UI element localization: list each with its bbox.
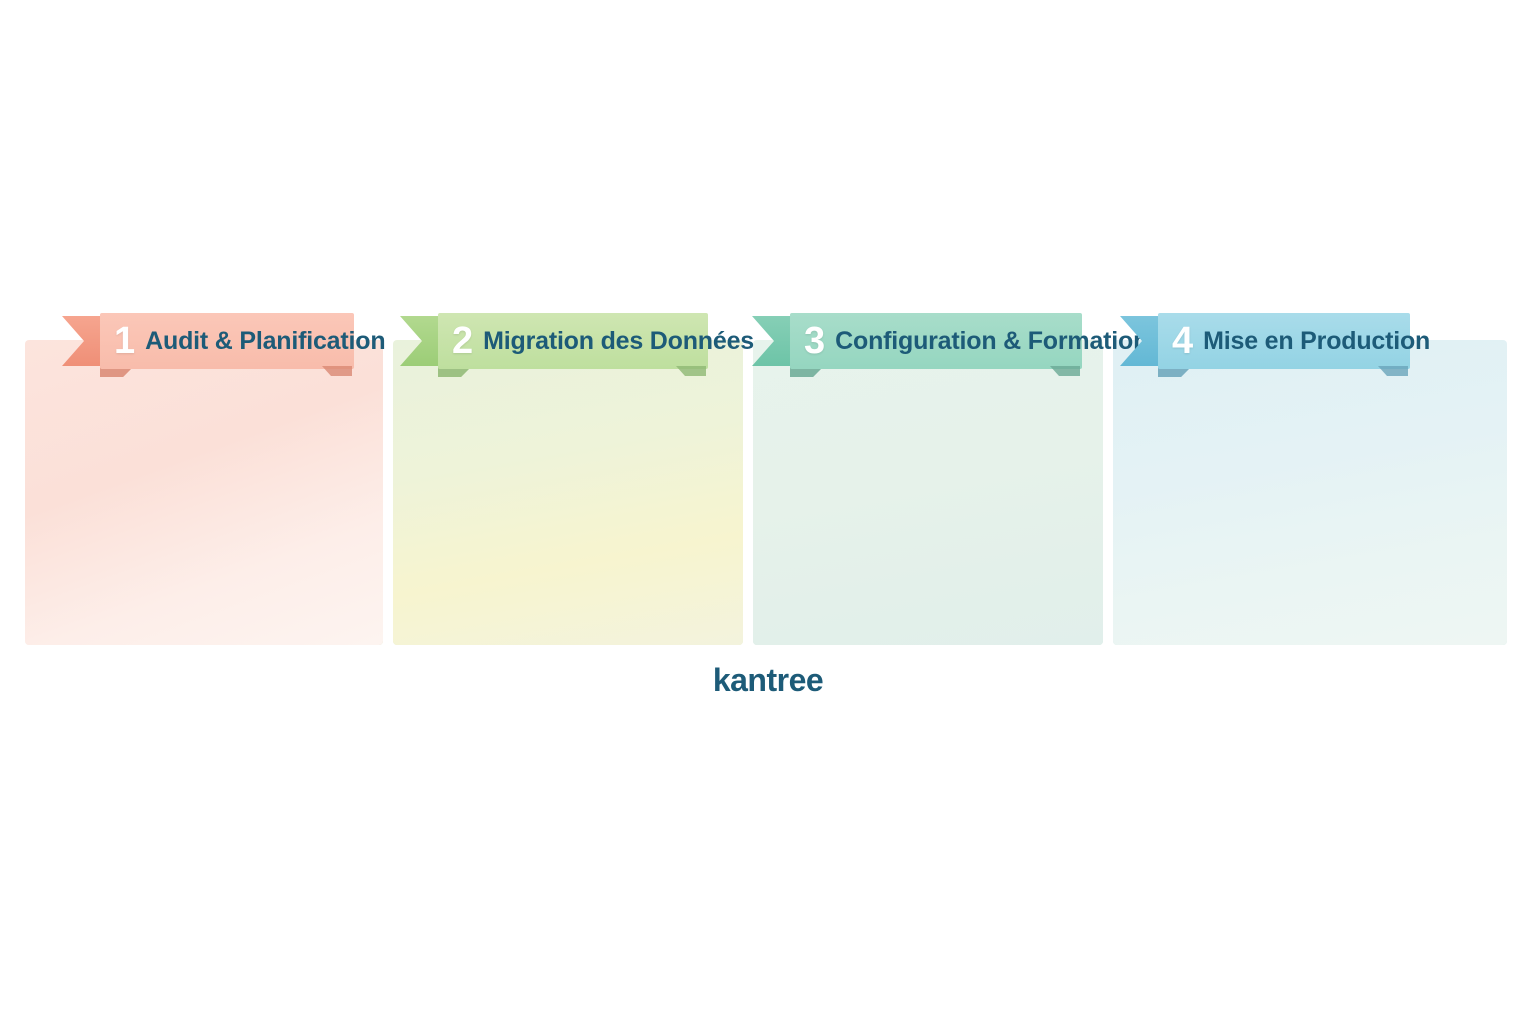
panel-2-background (393, 340, 743, 645)
panel-3-background (753, 340, 1103, 645)
step-panel-4[interactable]: Kantree (1113, 340, 1507, 645)
step-banner-3[interactable]: 3 Configuration & Formation (752, 313, 1082, 369)
ribbon-body-1: 1 Audit & Planification (100, 313, 354, 369)
step-label-1: Audit & Planification (145, 327, 385, 356)
step-panel-1[interactable] (25, 340, 383, 645)
panel-1-background (25, 340, 383, 645)
kantree-wordmark: kantree (0, 662, 1536, 699)
step-banner-1[interactable]: 1 Audit & Planification (62, 313, 354, 369)
ribbon-body-3: 3 Configuration & Formation (790, 313, 1082, 369)
step-label-2: Migration des Données (483, 327, 754, 356)
step-number-2: 2 (452, 322, 473, 360)
step-banner-4[interactable]: 4 Mise en Production (1120, 313, 1410, 369)
steps-strip: Kantree (25, 340, 1507, 645)
step-number-3: 3 (804, 322, 825, 360)
step-label-4: Mise en Production (1203, 327, 1430, 356)
step-panel-2[interactable] (393, 340, 743, 645)
panel-4-background (1113, 340, 1507, 645)
step-panel-3[interactable] (753, 340, 1103, 645)
ribbon-body-4: 4 Mise en Production (1158, 313, 1410, 369)
step-label-3: Configuration & Formation (835, 327, 1148, 356)
step-banner-2[interactable]: 2 Migration des Données (400, 313, 708, 369)
step-number-1: 1 (114, 322, 135, 360)
infographic-canvas: Kantree (0, 0, 1536, 1024)
step-number-4: 4 (1172, 322, 1193, 360)
ribbon-body-2: 2 Migration des Données (438, 313, 708, 369)
